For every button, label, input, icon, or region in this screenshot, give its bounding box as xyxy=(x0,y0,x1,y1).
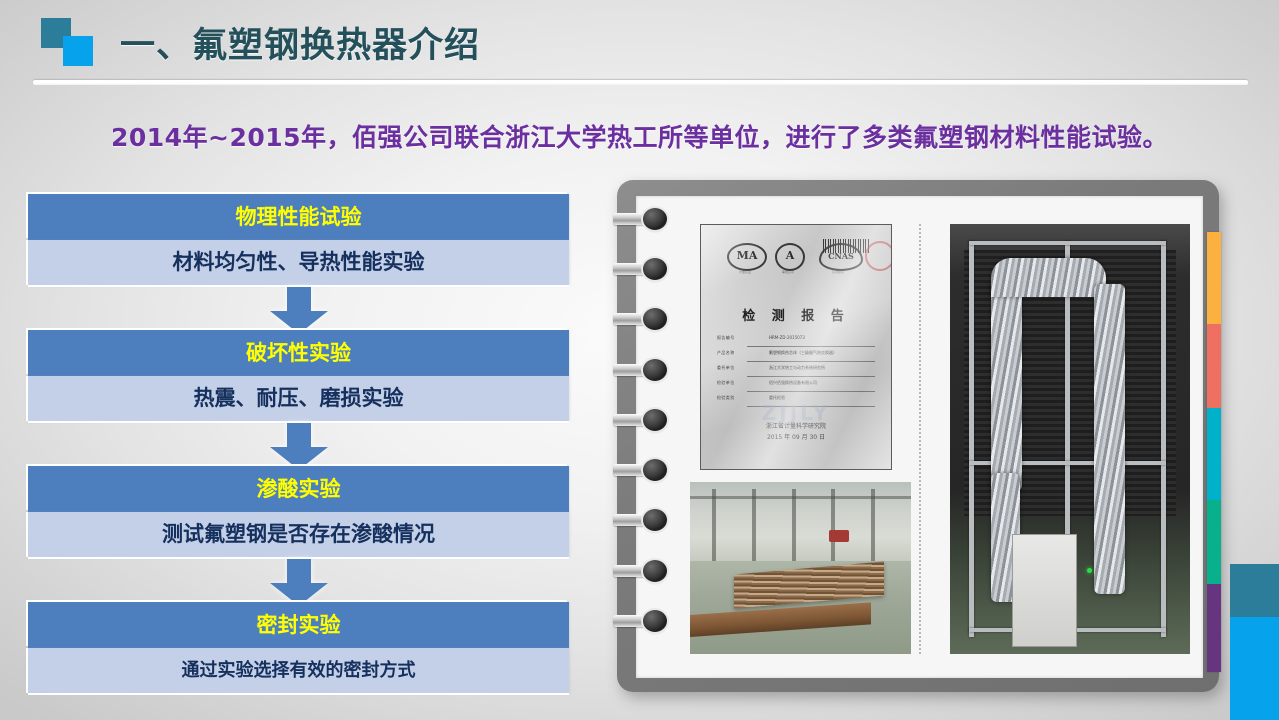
report-field-value: 氟塑钢换热芯体（三级烟气热交换器） xyxy=(769,350,837,356)
photo-column xyxy=(752,489,756,561)
report-field-row: 产品名称 氟塑钢换热芯体（三级烟气热交换器） xyxy=(717,348,875,363)
report-title: 检 测 报 告 xyxy=(701,305,891,324)
report-field-row: 报告编号 HRM-ZD-2015073 xyxy=(717,333,875,348)
field-rule xyxy=(747,361,875,362)
rig-insulated-duct xyxy=(991,284,1022,490)
color-band-coral xyxy=(1207,324,1221,408)
spiral-ring-icon xyxy=(613,208,671,230)
heat-exchanger-tube-bundle-photo xyxy=(690,482,911,654)
test-report-document: MA 计量认证 A 审查认可 CNAS 认可标识 检 测 报 告 报告编号 HR… xyxy=(700,224,892,470)
rig-frame-rail xyxy=(969,241,1166,245)
flow-stage-4-body: 通过实验选择有效的密封方式 xyxy=(28,648,569,693)
report-field-label: 报告编号 xyxy=(717,335,735,341)
field-rule xyxy=(747,376,875,377)
ring-eyelet xyxy=(643,208,667,230)
ring-eyelet xyxy=(643,459,667,481)
flow-stage-4-header: 密封实验 xyxy=(28,602,569,648)
report-field-list: 报告编号 HRM-ZD-2015073 产品名称 氟塑钢换热芯体（三级烟气热交换… xyxy=(717,333,875,408)
spiral-ring-icon xyxy=(613,258,671,280)
flow-stage-1: 物理性能试验 材料均匀性、导热性能实验 xyxy=(28,194,569,285)
decorative-square-bottom-right-dark xyxy=(1230,564,1279,617)
ring-eyelet xyxy=(643,359,667,381)
cma-mark-icon: MA xyxy=(727,243,767,271)
ring-eyelet xyxy=(643,308,667,330)
page-title: 一、氟塑钢换热器介绍 xyxy=(120,17,480,68)
cal-caption: 审查认可 xyxy=(767,270,809,274)
thermal-test-rig-photo xyxy=(950,224,1190,654)
ring-eyelet xyxy=(643,560,667,582)
cnas-caption: 认可标识 xyxy=(817,270,859,274)
report-field-value: 绍兴佰强换热设备有限公司 xyxy=(769,380,817,386)
photo-red-cart xyxy=(829,530,849,542)
photo-roof-beam xyxy=(690,496,911,499)
notebook-panel: MA 计量认证 A 审查认可 CNAS 认可标识 检 测 报 告 报告编号 HR… xyxy=(617,180,1219,692)
photo-background-upper xyxy=(690,482,911,561)
flow-stage-1-header: 物理性能试验 xyxy=(28,194,569,240)
spiral-ring-icon xyxy=(613,509,671,531)
flow-stage-3-header: 渗酸实验 xyxy=(28,466,569,512)
report-footer-date: 2015 年 09 月 30 日 xyxy=(701,432,891,443)
cal-mark-icon: A xyxy=(775,243,805,271)
flow-stage-3-body: 测试氟塑钢是否存在渗酸情况 xyxy=(28,512,569,557)
report-field-value: 浙江大学热工与动力系统研究所 xyxy=(769,365,825,371)
photo-column xyxy=(792,489,796,561)
red-seal-icon xyxy=(865,241,892,271)
arrow-down-icon xyxy=(266,559,332,607)
spiral-ring-icon xyxy=(613,560,671,582)
ring-eyelet xyxy=(643,509,667,531)
flow-stage-2: 破坏性实验 热震、耐压、磨损实验 xyxy=(28,330,569,421)
slide-canvas: 一、氟塑钢换热器介绍 2014年~2015年，佰强公司联合浙江大学热工所等单位，… xyxy=(0,0,1279,720)
spiral-ring-icon xyxy=(613,359,671,381)
title-underline-rule xyxy=(33,80,1248,85)
report-footer-org: 浙江省计量科学研究院 xyxy=(701,421,891,432)
color-band-purple xyxy=(1207,584,1221,672)
arrow-down-icon xyxy=(266,423,332,471)
spiral-ring-icon xyxy=(613,308,671,330)
report-field-row: 委托单位 浙江大学热工与动力系统研究所 xyxy=(717,363,875,378)
spiral-ring-icon xyxy=(613,459,671,481)
color-accent-strip xyxy=(1207,232,1221,672)
spiral-ring-icon xyxy=(613,409,671,431)
decorative-square-top-left-bright xyxy=(63,36,93,66)
report-field-row: 检验单位 绍兴佰强换热设备有限公司 xyxy=(717,378,875,393)
ring-eyelet xyxy=(643,258,667,280)
flow-stage-2-header: 破坏性实验 xyxy=(28,330,569,376)
rig-control-cabinet xyxy=(1012,534,1076,648)
report-field-label: 产品名称 xyxy=(717,350,735,356)
ring-eyelet xyxy=(643,610,667,632)
color-band-cyan xyxy=(1207,408,1221,500)
rig-status-led-icon xyxy=(1087,568,1092,573)
ring-eyelet xyxy=(643,409,667,431)
flow-stage-2-body: 热震、耐压、磨损实验 xyxy=(28,376,569,421)
arrow-down-icon xyxy=(266,287,332,335)
color-band-amber xyxy=(1207,232,1221,324)
rig-insulated-duct-bend xyxy=(991,258,1106,297)
report-field-label: 检验单位 xyxy=(717,380,735,386)
photo-column xyxy=(712,489,716,561)
photo-column xyxy=(831,489,835,561)
decorative-square-bottom-right-bright xyxy=(1230,617,1279,720)
field-rule xyxy=(747,391,875,392)
field-rule xyxy=(747,346,875,347)
report-field-value: HRM-ZD-2015073 xyxy=(769,335,805,340)
cma-caption: 计量认证 xyxy=(724,270,766,274)
spiral-ring-icon xyxy=(613,610,671,632)
flow-stage-3: 渗酸实验 测试氟塑钢是否存在渗酸情况 xyxy=(28,466,569,557)
flow-stage-4: 密封实验 通过实验选择有效的密封方式 xyxy=(28,602,569,693)
notebook-page: MA 计量认证 A 审查认可 CNAS 认可标识 检 测 报 告 报告编号 HR… xyxy=(636,196,1203,678)
rig-insulated-duct xyxy=(1094,284,1125,594)
barcode-icon xyxy=(823,239,869,253)
rig-frame-post xyxy=(969,241,974,637)
subtitle-text: 2014年~2015年，佰强公司联合浙江大学热工所等单位，进行了多类氟塑钢材料性… xyxy=(0,118,1279,154)
photo-column xyxy=(871,489,875,561)
dotted-divider xyxy=(919,224,921,654)
color-band-teal xyxy=(1207,500,1221,584)
experiment-flowchart: 物理性能试验 材料均匀性、导热性能实验 破坏性实验 热震、耐压、磨损实验 渗酸实… xyxy=(28,194,569,694)
report-field-label: 委托单位 xyxy=(717,365,735,371)
report-footer: 浙江省计量科学研究院 2015 年 09 月 30 日 xyxy=(701,421,891,443)
rig-frame-post xyxy=(1161,241,1166,637)
flow-stage-1-body: 材料均匀性、导热性能实验 xyxy=(28,240,569,285)
